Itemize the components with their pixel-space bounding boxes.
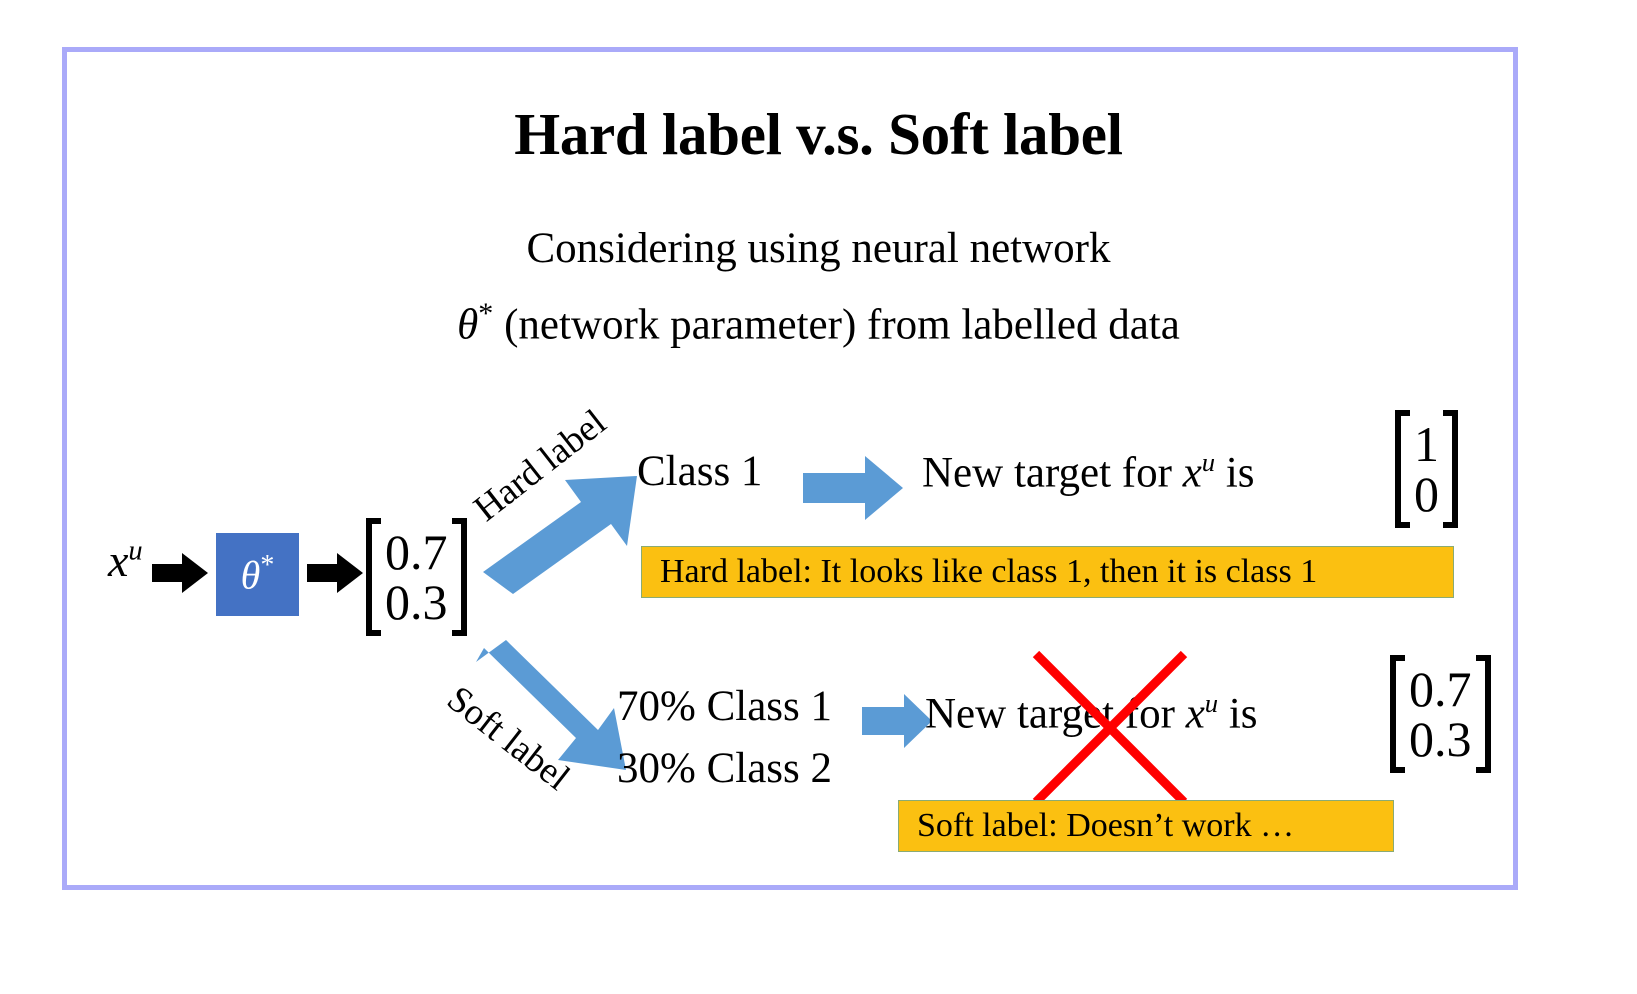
soft-target-u-superscript: u <box>1205 688 1218 718</box>
bracket-right-icon <box>1441 410 1461 528</box>
hard-class-text: Class 1 <box>637 447 762 496</box>
soft-target-vector-cell-0: 0.7 <box>1409 664 1472 714</box>
black-arrow-input-icon <box>152 551 208 595</box>
theta-star-superscript: * <box>478 296 493 330</box>
soft-target-vector-cells: 0.7 0.3 <box>1407 655 1474 773</box>
hard-target-vector: 1 0 <box>1392 410 1461 528</box>
bracket-right-icon <box>1474 655 1494 773</box>
soft-target-vector-cell-1: 0.3 <box>1409 714 1472 764</box>
soft-branch-arrow-icon <box>470 638 635 773</box>
probability-vector-cell-0: 0.7 <box>385 527 448 577</box>
probability-vector-cells: 0.7 0.3 <box>383 518 450 636</box>
hard-target-vector-cell-0: 1 <box>1414 419 1439 469</box>
bracket-right-icon <box>450 518 470 636</box>
probability-vector-cell-1: 0.3 <box>385 577 448 627</box>
hard-target-prefix: New target for <box>922 449 1183 496</box>
soft-class-line-1: 70% Class 1 <box>617 682 832 731</box>
probability-vector: 0.7 0.3 <box>363 518 470 636</box>
input-u-superscript: u <box>128 536 142 567</box>
hard-new-target-text: New target for xu is <box>922 447 1255 497</box>
subtitle-line-2: θ* (network parameter) from labelled dat… <box>0 296 1637 349</box>
hard-label-callout: Hard label: It looks like class 1, then … <box>641 546 1454 598</box>
hard-target-x-symbol: x <box>1183 449 1202 496</box>
model-theta-box: θ* <box>216 533 299 616</box>
bracket-left-icon <box>1392 410 1412 528</box>
theta-box-label: θ* <box>241 550 275 598</box>
soft-label-callout: Soft label: Doesn’t work … <box>898 800 1394 852</box>
red-cross-strikeout-icon <box>1030 648 1190 808</box>
soft-label-callout-text: Soft label: Doesn’t work … <box>917 807 1294 845</box>
subtitle-line-2-rest: (network parameter) from labelled data <box>493 301 1179 348</box>
soft-target-suffix: is <box>1218 690 1257 737</box>
soft-class-line-2: 30% Class 2 <box>617 744 832 793</box>
soft-target-vector: 0.7 0.3 <box>1387 655 1494 773</box>
hard-branch-arrow-icon <box>477 470 647 600</box>
hard-target-suffix: is <box>1215 449 1254 496</box>
hard-target-vector-cells: 1 0 <box>1412 410 1441 528</box>
slide-canvas: Hard label v.s. Soft label Considering u… <box>0 0 1637 994</box>
hard-target-u-superscript: u <box>1202 447 1215 477</box>
black-arrow-output-icon <box>307 551 363 595</box>
input-sample-label: xu <box>108 534 143 587</box>
soft-horizontal-arrow-icon <box>862 692 932 750</box>
input-x-symbol: x <box>108 535 128 586</box>
subtitle-line-1: Considering using neural network <box>0 224 1637 273</box>
hard-label-callout-text: Hard label: It looks like class 1, then … <box>660 553 1317 591</box>
bracket-left-icon <box>1387 655 1407 773</box>
hard-horizontal-arrow-icon <box>803 453 903 523</box>
bracket-left-icon <box>363 518 383 636</box>
theta-symbol: θ <box>457 301 478 348</box>
hard-target-vector-cell-1: 0 <box>1414 469 1439 519</box>
page-title: Hard label v.s. Soft label <box>0 100 1637 169</box>
